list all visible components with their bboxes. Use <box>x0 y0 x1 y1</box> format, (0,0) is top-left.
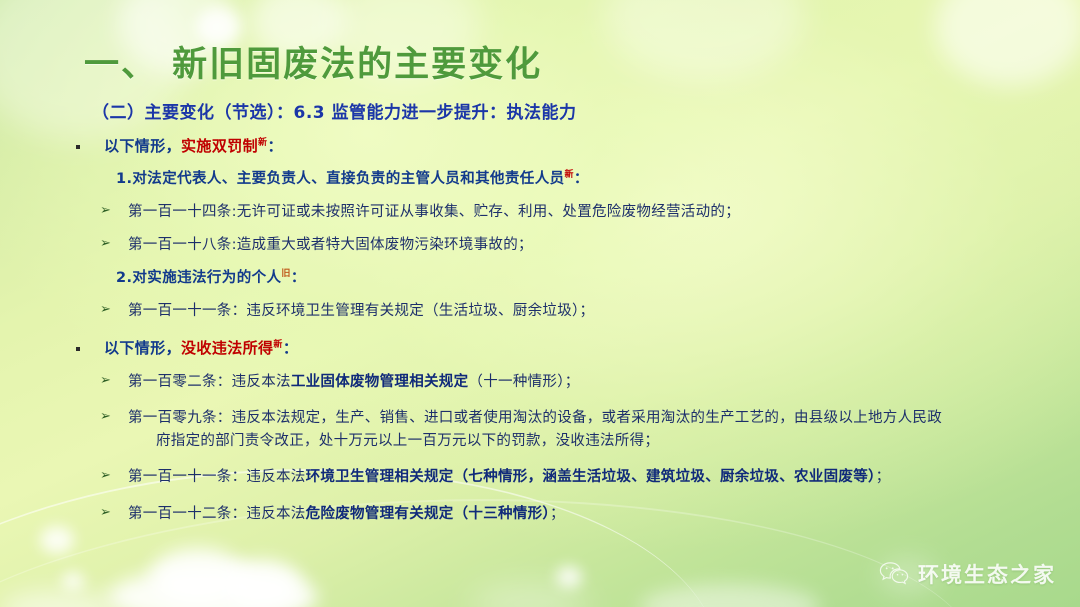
list-item-text: 造成重大或者特大固体废物污染环境事故的； <box>237 237 533 253</box>
numbered-item-2: 2.对实施违法行为的个人旧： <box>70 268 1030 289</box>
section-1-lead: 以下情形， <box>104 137 181 155</box>
list-item-text: 违反环境卫生管理有关规定（生活垃圾、厨余垃圾）； <box>246 303 594 319</box>
arrow-bullet-icon: ➢ <box>100 407 111 427</box>
list-item-accent: 危险废物管理有关规定（十三种情形） <box>306 506 550 522</box>
list-item-plain-tail: ； <box>876 469 891 485</box>
list-item: ➢第一百一十一条：违反本法环境卫生管理相关规定（七种情形，涵盖生活垃圾、建筑垃圾… <box>70 466 1030 488</box>
list-item-plain: 违反本法 <box>246 469 305 485</box>
slide-content: 一、 新旧固废法的主要变化 （二）主要变化（节选）：6.3 监管能力进一步提升：… <box>0 0 1080 607</box>
numbered-item-1-tail: ： <box>574 171 589 187</box>
list-item-prefix: 第一百一十一条： <box>128 303 246 319</box>
list-item-line-1: 违反本法规定，生产、销售、进口或者使用淘汰的设备，或者采用淘汰的生产工艺的，由县… <box>232 410 942 426</box>
numbered-item-1-text: 1.对法定代表人、主要负责人、直接负责的主管人员和其他责任人员 <box>116 171 565 187</box>
numbered-item-2-tail: ： <box>291 270 306 286</box>
section-2-tail: ： <box>283 339 298 357</box>
list-item: ➢第一百一十二条：违反本法危险废物管理有关规定（十三种情形）； <box>70 503 1030 525</box>
section-heading-1: 以下情形，实施双罚制新： <box>70 136 1030 158</box>
section-2-superscript: 新 <box>273 340 282 350</box>
numbered-item-1-superscript: 新 <box>565 170 574 180</box>
list-item-prefix: 第一百一十二条： <box>128 506 246 522</box>
list-item-plain: 违反本法 <box>246 506 305 522</box>
list-item-prefix: 第一百一十一条： <box>128 469 246 485</box>
arrow-bullet-icon: ➢ <box>100 503 111 523</box>
list-item-accent: 工业固体废物管理相关规定 <box>291 374 469 390</box>
list-item: ➢第一百零九条：违反本法规定，生产、销售、进口或者使用淘汰的设备，或者采用淘汰的… <box>70 407 1030 452</box>
arrow-bullet-icon: ➢ <box>100 234 111 254</box>
wechat-icon <box>879 561 909 587</box>
section-heading-2: 以下情形，没收违法所得新： <box>70 338 1030 360</box>
list-item-plain: 违反本法 <box>232 374 291 390</box>
arrow-bullet-icon: ➢ <box>100 300 111 320</box>
watermark-text: 环境生态之家 <box>918 559 1056 589</box>
arrow-bullet-icon: ➢ <box>100 466 111 486</box>
list-item-prefix: 第一百零二条： <box>128 374 232 390</box>
page-subtitle: （二）主要变化（节选）：6.3 监管能力进一步提升：执法能力 <box>92 98 577 123</box>
section-2-lead: 以下情形， <box>104 339 181 357</box>
list-item-prefix: 第一百零九条： <box>128 410 232 426</box>
section-1-highlight: 实施双罚制 <box>181 137 258 155</box>
list-item-plain-tail: ； <box>550 506 565 522</box>
list-item-accent: 环境卫生管理相关规定（七种情形，涵盖生活垃圾、建筑垃圾、厨余垃圾、农业固废等） <box>306 469 876 485</box>
watermark: 环境生态之家 <box>879 559 1056 589</box>
list-item: ➢第一百零二条：违反本法工业固体废物管理相关规定（十一种情形）； <box>70 371 1030 393</box>
list-item-line-2: 府指定的部门责令改正，处十万元以上一百万元以下的罚款，没收违法所得； <box>128 430 1030 452</box>
list-item: ➢第一百一十一条：违反环境卫生管理有关规定（生活垃圾、厨余垃圾）； <box>70 300 1030 322</box>
slide-body: 以下情形，实施双罚制新： 1.对法定代表人、主要负责人、直接负责的主管人员和其他… <box>70 136 1030 536</box>
list-item-prefix: 第一百一十四条: <box>128 204 237 220</box>
numbered-item-1: 1.对法定代表人、主要负责人、直接负责的主管人员和其他责任人员新： <box>70 169 1030 190</box>
section-1-tail: ： <box>267 137 282 155</box>
page-title: 一、 新旧固废法的主要变化 <box>84 36 542 87</box>
list-item: ➢第一百一十四条:无许可证或未按照许可证从事收集、贮存、利用、处置危险废物经营活… <box>70 201 1030 223</box>
list-item-text: 无许可证或未按照许可证从事收集、贮存、利用、处置危险废物经营活动的； <box>237 204 740 220</box>
numbered-item-2-text: 2.对实施违法行为的个人 <box>116 270 281 286</box>
list-item-plain-tail: （十一种情形）； <box>468 374 579 390</box>
list-item-prefix: 第一百一十八条: <box>128 237 237 253</box>
list-item: ➢第一百一十八条:造成重大或者特大固体废物污染环境事故的； <box>70 234 1030 256</box>
presentation-slide: 一、 新旧固废法的主要变化 （二）主要变化（节选）：6.3 监管能力进一步提升：… <box>0 0 1080 607</box>
arrow-bullet-icon: ➢ <box>100 201 111 221</box>
numbered-item-2-superscript: 旧 <box>281 269 290 279</box>
arrow-bullet-icon: ➢ <box>100 371 111 391</box>
section-2-highlight: 没收违法所得 <box>181 339 273 357</box>
